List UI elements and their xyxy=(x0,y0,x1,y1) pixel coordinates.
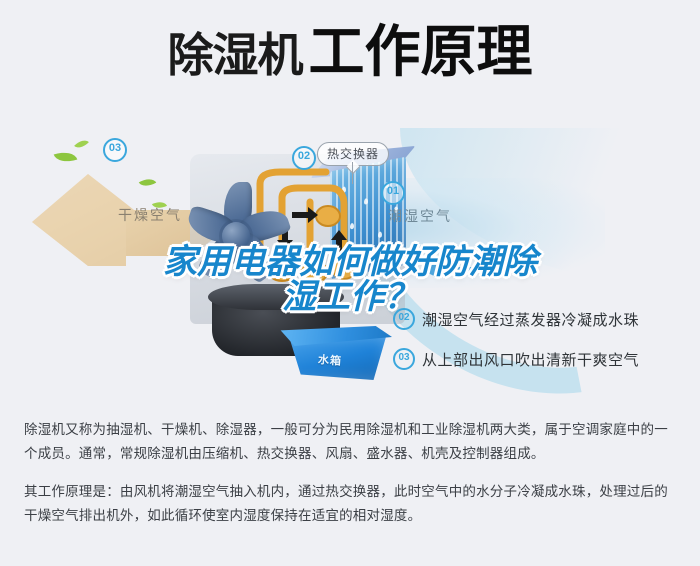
leaf-icon xyxy=(54,148,78,166)
page-root: 除湿机工作原理 xyxy=(0,0,700,566)
step-text: 从上部出风口吹出清新干爽空气 xyxy=(422,349,639,370)
step-row: 03 从上部出风口吹出清新干爽空气 xyxy=(393,348,693,370)
badge-dry-air: 03 xyxy=(103,138,127,162)
callout-stem xyxy=(352,162,353,184)
water-tank-label: 水箱 xyxy=(317,351,342,369)
overlay-headline-line1: 家用电器如何做好防潮除 xyxy=(163,243,537,281)
badge-heat-exchanger: 02 xyxy=(292,146,316,170)
page-title: 除湿机工作原理 xyxy=(0,24,700,80)
paragraph-principle: 其工作原理是：由风机将潮湿空气抽入机内，通过热交换器，此时空气中的水分子冷凝成水… xyxy=(24,480,678,528)
leaf-icon xyxy=(74,137,89,152)
paragraph-definition: 除湿机又称为抽湿机、干燥机、除湿器，一般可分为民用除湿机和工业除湿机两大类，属于… xyxy=(24,418,678,466)
heat-exchanger-callout: 热交换器 xyxy=(317,142,389,166)
body-copy: 除湿机又称为抽湿机、干燥机、除湿器，一般可分为民用除湿机和工业除湿机两大类，属于… xyxy=(24,418,678,528)
step-badge: 03 xyxy=(393,348,415,370)
badge-humid-air: 01 xyxy=(381,181,405,205)
overlay-headline: 家用电器如何做好防潮除 湿工作？ xyxy=(0,245,700,316)
label-dry-air: 干燥空气 xyxy=(118,205,182,225)
title-secondary: 工作原理 xyxy=(309,20,533,83)
step-list: 02 潮湿空气经过蒸发器冷凝成水珠 03 从上部出风口吹出清新干爽空气 xyxy=(393,308,693,388)
overlay-headline-line2: 湿工作？ xyxy=(0,280,700,315)
title-primary: 除湿机 xyxy=(168,29,303,81)
label-humid-air: 潮湿空气 xyxy=(388,206,452,226)
water-tank: 水箱 xyxy=(276,326,396,384)
